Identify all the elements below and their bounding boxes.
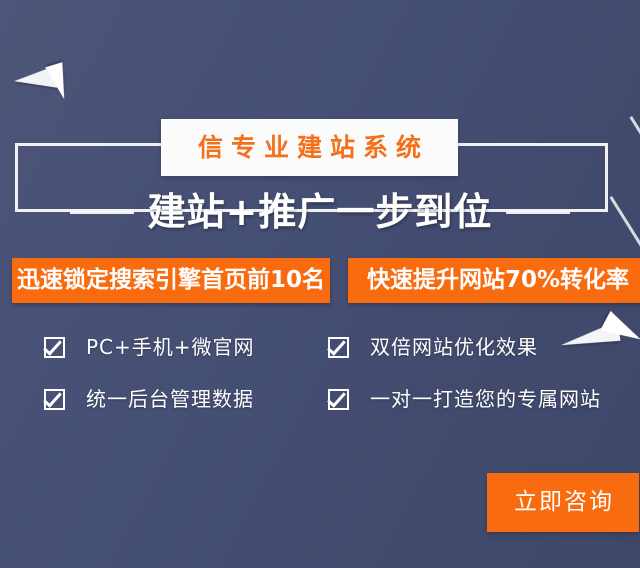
headline-rule-right <box>506 211 570 214</box>
feature-item: 一对一打造您的专属网站 <box>328 386 601 412</box>
checkbox-checked-icon <box>44 334 70 360</box>
feature-label: 统一后台管理数据 <box>86 389 254 409</box>
checkbox-checked-icon <box>328 386 354 412</box>
feature-item: 统一后台管理数据 <box>44 386 254 412</box>
headline-text: 建站+推广一步到位 <box>148 193 493 231</box>
headline-rule-left <box>70 211 134 214</box>
feature-label: 双倍网站优化效果 <box>370 337 538 357</box>
headline-row: 建站+推广一步到位 <box>0 182 640 242</box>
consult-now-label: 立即咨询 <box>512 491 614 514</box>
feature-list: PC+手机+微官网 双倍网站优化效果 统一后台管理数据 一对一打造您的专属网站 <box>40 330 640 430</box>
highlight-bar-right-label: 快速提升网站70%转化率 <box>367 269 629 292</box>
feature-item: PC+手机+微官网 <box>44 334 255 360</box>
feature-item: 双倍网站优化效果 <box>328 334 538 360</box>
paper-plane-wing-icon <box>45 62 73 102</box>
feature-label: 一对一打造您的专属网站 <box>370 389 601 409</box>
highlight-bar-left: 迅速锁定搜索引擎首页前10名 <box>12 258 330 303</box>
checkbox-checked-icon <box>44 386 70 412</box>
highlight-bar-right: 快速提升网站70%转化率 <box>348 258 640 303</box>
paper-plane-icon <box>14 62 74 110</box>
highlight-bar-left-label: 迅速锁定搜索引擎首页前10名 <box>17 269 325 292</box>
feature-label: PC+手机+微官网 <box>86 337 255 357</box>
checkbox-checked-icon <box>328 334 354 360</box>
badge-label: 信专业建站系统 <box>190 135 429 160</box>
consult-now-button[interactable]: 立即咨询 <box>487 473 639 532</box>
badge: 信专业建站系统 <box>161 119 458 176</box>
promotional-banner: 信专业建站系统 建站+推广一步到位 迅速锁定搜索引擎首页前10名 快速提升网站7… <box>0 0 640 568</box>
